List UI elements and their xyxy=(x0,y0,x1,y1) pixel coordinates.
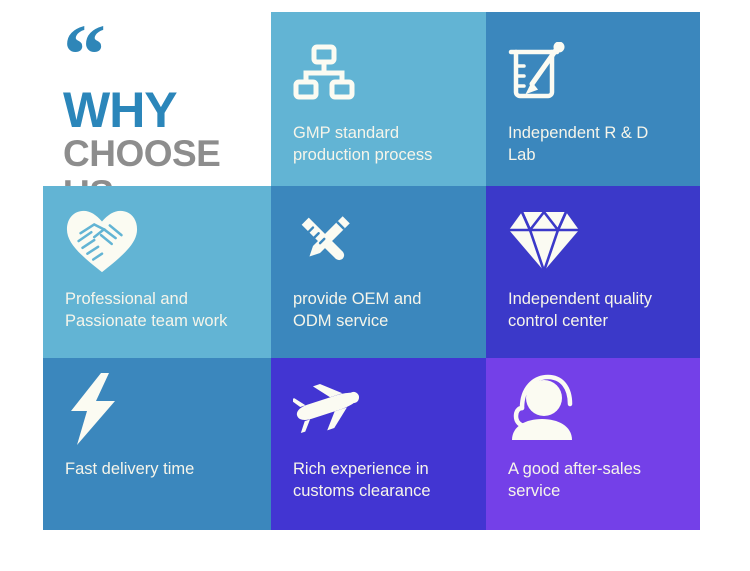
diamond-icon xyxy=(508,204,582,278)
feature-cell-team-work[interactable]: Professional and Passionate team work xyxy=(43,186,271,358)
feature-cell-rd-lab[interactable]: Independent R & D Lab xyxy=(486,12,700,186)
feature-cell-quality-control[interactable]: Independent quality control center xyxy=(486,186,700,358)
feature-label-oem-odm: provide OEM and ODM service xyxy=(293,288,476,332)
beaker-pencil-icon xyxy=(508,36,582,110)
why-choose-us-banner: “ WHY CHOOSE US GMP standard production … xyxy=(0,0,750,571)
headset-support-icon xyxy=(508,372,582,446)
feature-label-customs-clearance: Rich experience in customs clearance xyxy=(293,458,476,502)
feature-cell-fast-delivery[interactable]: Fast delivery time xyxy=(43,358,271,530)
org-chart-icon xyxy=(293,36,367,110)
airplane-icon xyxy=(293,372,367,446)
page-title-choose-us: CHOOSE US xyxy=(63,134,271,186)
pencil-ruler-icon xyxy=(293,204,367,278)
feature-cell-gmp-standard[interactable]: GMP standard production process xyxy=(271,12,486,186)
quote-mark-icon: “ xyxy=(63,28,271,82)
lightning-bolt-icon xyxy=(65,372,139,446)
feature-label-team-work: Professional and Passionate team work xyxy=(65,288,261,332)
feature-cell-oem-odm[interactable]: provide OEM and ODM service xyxy=(271,186,486,358)
feature-grid: “ WHY CHOOSE US GMP standard production … xyxy=(43,12,700,530)
feature-label-rd-lab: Independent R & D Lab xyxy=(508,122,690,166)
feature-label-quality-control: Independent quality control center xyxy=(508,288,690,332)
feature-label-fast-delivery: Fast delivery time xyxy=(65,458,261,480)
feature-label-gmp-standard: GMP standard production process xyxy=(293,122,476,166)
feature-cell-after-sales[interactable]: A good after-sales service xyxy=(486,358,700,530)
feature-label-after-sales: A good after-sales service xyxy=(508,458,690,502)
handshake-heart-icon xyxy=(65,204,139,278)
feature-cell-customs-clearance[interactable]: Rich experience in customs clearance xyxy=(271,358,486,530)
intro-title-cell: “ WHY CHOOSE US xyxy=(43,12,271,186)
page-title-why: WHY xyxy=(63,84,271,136)
